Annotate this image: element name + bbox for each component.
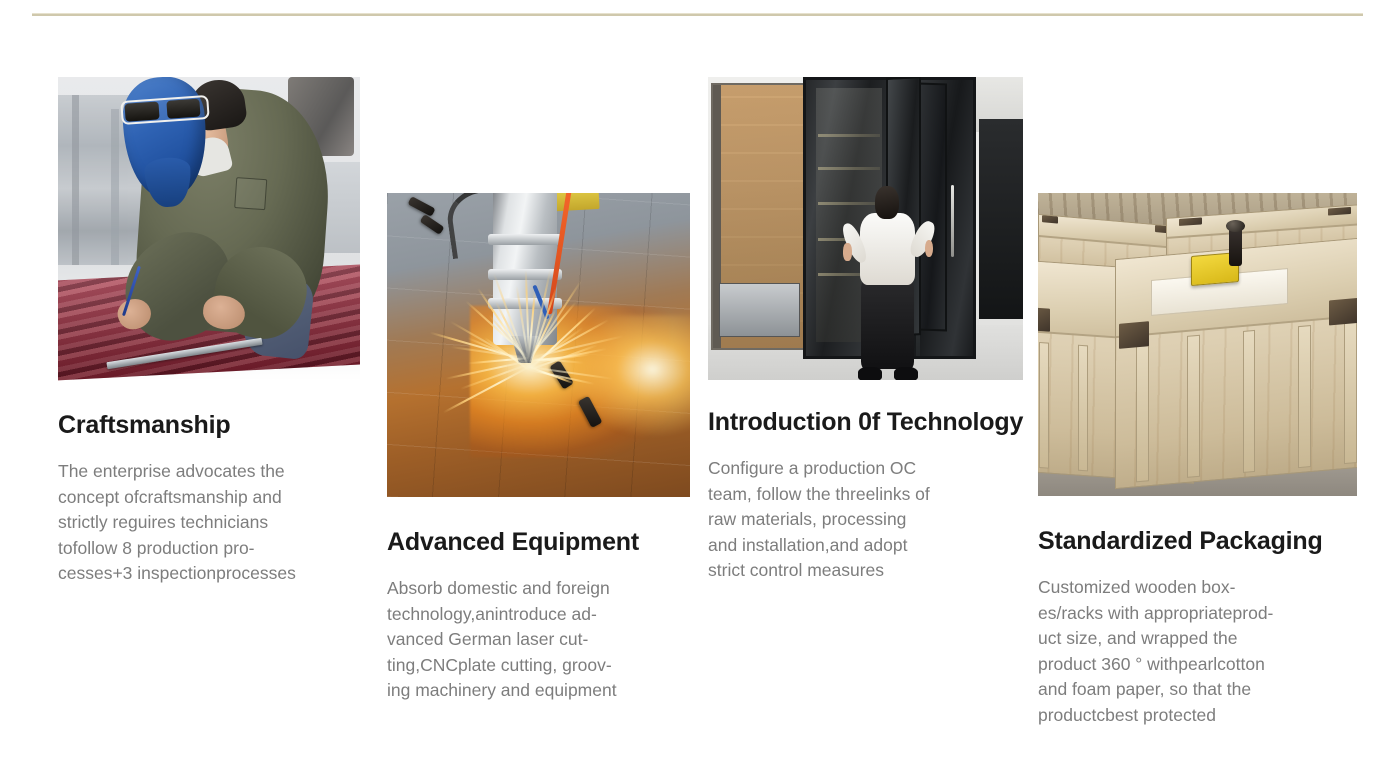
crate-slat [1186,334,1199,477]
feature-title-introduction-of-technology: Introduction 0f Technology [708,408,1028,437]
head-ring-1 [488,234,562,245]
technician-left-hand [843,243,851,260]
glasses-lens-left [125,102,159,122]
photo-introduction-of-technology [708,77,1023,380]
open-door-leaf [919,82,947,331]
tool-handle [1229,226,1242,265]
crate-slat [1298,325,1311,468]
crate-slat [1039,342,1049,469]
crate-slat [1343,321,1356,464]
technician-shirt [860,213,915,286]
crate-corner-bracket [1118,321,1148,349]
feature-introduction-of-technology: Introduction 0f Technology Configure a p… [708,77,1028,584]
crate-corner-bracket [1328,298,1357,326]
photo-craftsmanship [58,77,360,381]
feature-body-standardized-packaging: Customized wooden box- es/racks with app… [1038,575,1368,728]
plywood-display-panel [711,83,806,350]
top-horizontal-rule [32,13,1363,16]
crate-slat [1136,339,1149,482]
crate-slat [1079,344,1089,471]
feature-title-advanced-equipment: Advanced Equipment [387,528,697,557]
feature-title-craftsmanship: Craftsmanship [58,411,368,440]
technician-left-shoe [858,367,882,380]
technician-right-shoe [894,367,918,380]
feature-craftsmanship: Craftsmanship The enterprise advocates t… [58,77,368,587]
technician-right-hand [925,240,933,257]
photo-standardized-packaging [1038,193,1357,496]
photo-advanced-equipment [387,193,690,497]
slide-canvas: Craftsmanship The enterprise advocates t… [0,0,1394,759]
technician-figure [853,186,922,377]
crate-corner-bracket [1038,307,1051,331]
crate-slat [1242,330,1255,473]
door-handle [951,185,954,257]
jacket-pocket [233,177,267,211]
technician-legs [861,278,914,370]
feature-body-craftsmanship: The enterprise advocates the concept ofc… [58,459,358,587]
feature-body-advanced-equipment: Absorb domestic and foreign technology,a… [387,576,692,704]
feature-advanced-equipment: Advanced Equipment Absorb domestic and f… [387,193,697,704]
feature-title-standardized-packaging: Standardized Packaging [1038,527,1368,556]
glasses-lens-right [166,99,200,119]
shelf-line [818,134,880,137]
technician-head [875,186,899,218]
feature-body-introduction-of-technology: Configure a production OC team, follow t… [708,456,1008,584]
dark-cabinet [979,119,1023,319]
feature-standardized-packaging: Standardized Packaging Customized wooden… [1038,193,1368,728]
shelf-line [818,167,880,170]
